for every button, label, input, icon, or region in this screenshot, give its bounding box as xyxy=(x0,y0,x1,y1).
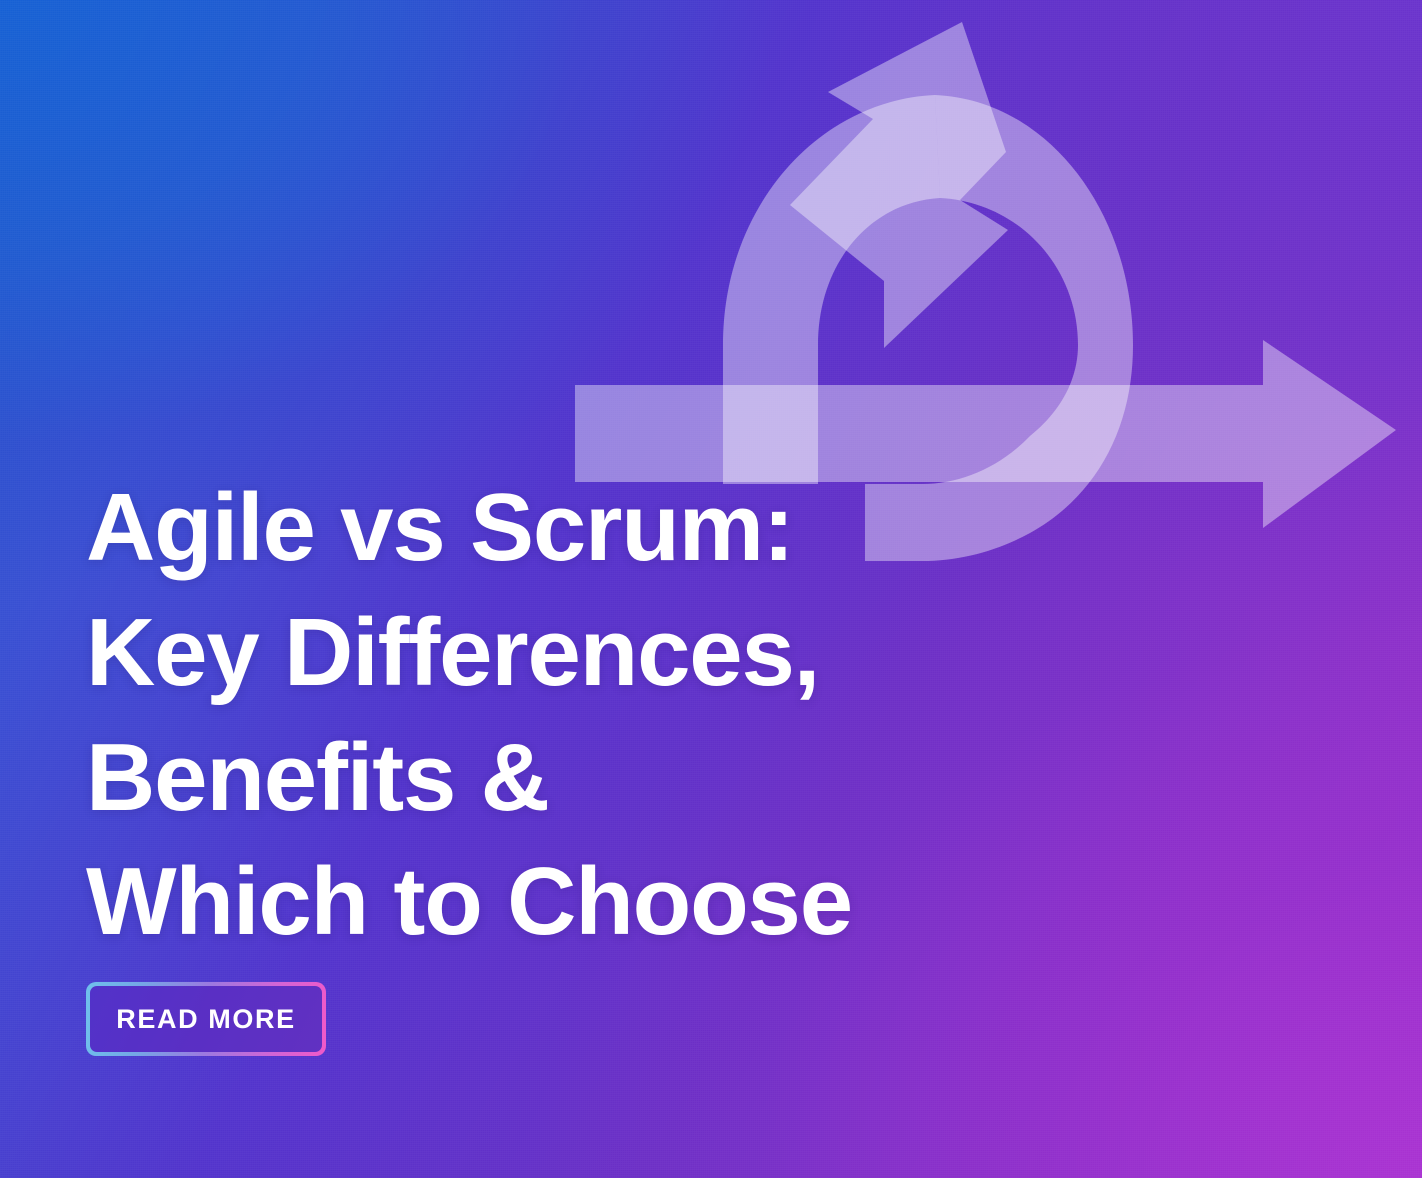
headline-line-2: Key Differences, xyxy=(86,591,1126,716)
headline-line-3: Benefits & xyxy=(86,716,1126,841)
read-more-button-inner: READ MORE xyxy=(89,985,323,1053)
page-title: Agile vs Scrum: Key Differences, Benefit… xyxy=(86,466,1126,965)
blog-hero-banner: Agile vs Scrum: Key Differences, Benefit… xyxy=(0,0,1422,1178)
headline-line-4: Which to Choose xyxy=(86,840,1126,965)
read-more-button-label: READ MORE xyxy=(116,1004,295,1035)
read-more-button[interactable]: READ MORE xyxy=(86,982,326,1056)
headline-line-1: Agile vs Scrum: xyxy=(86,466,1126,591)
